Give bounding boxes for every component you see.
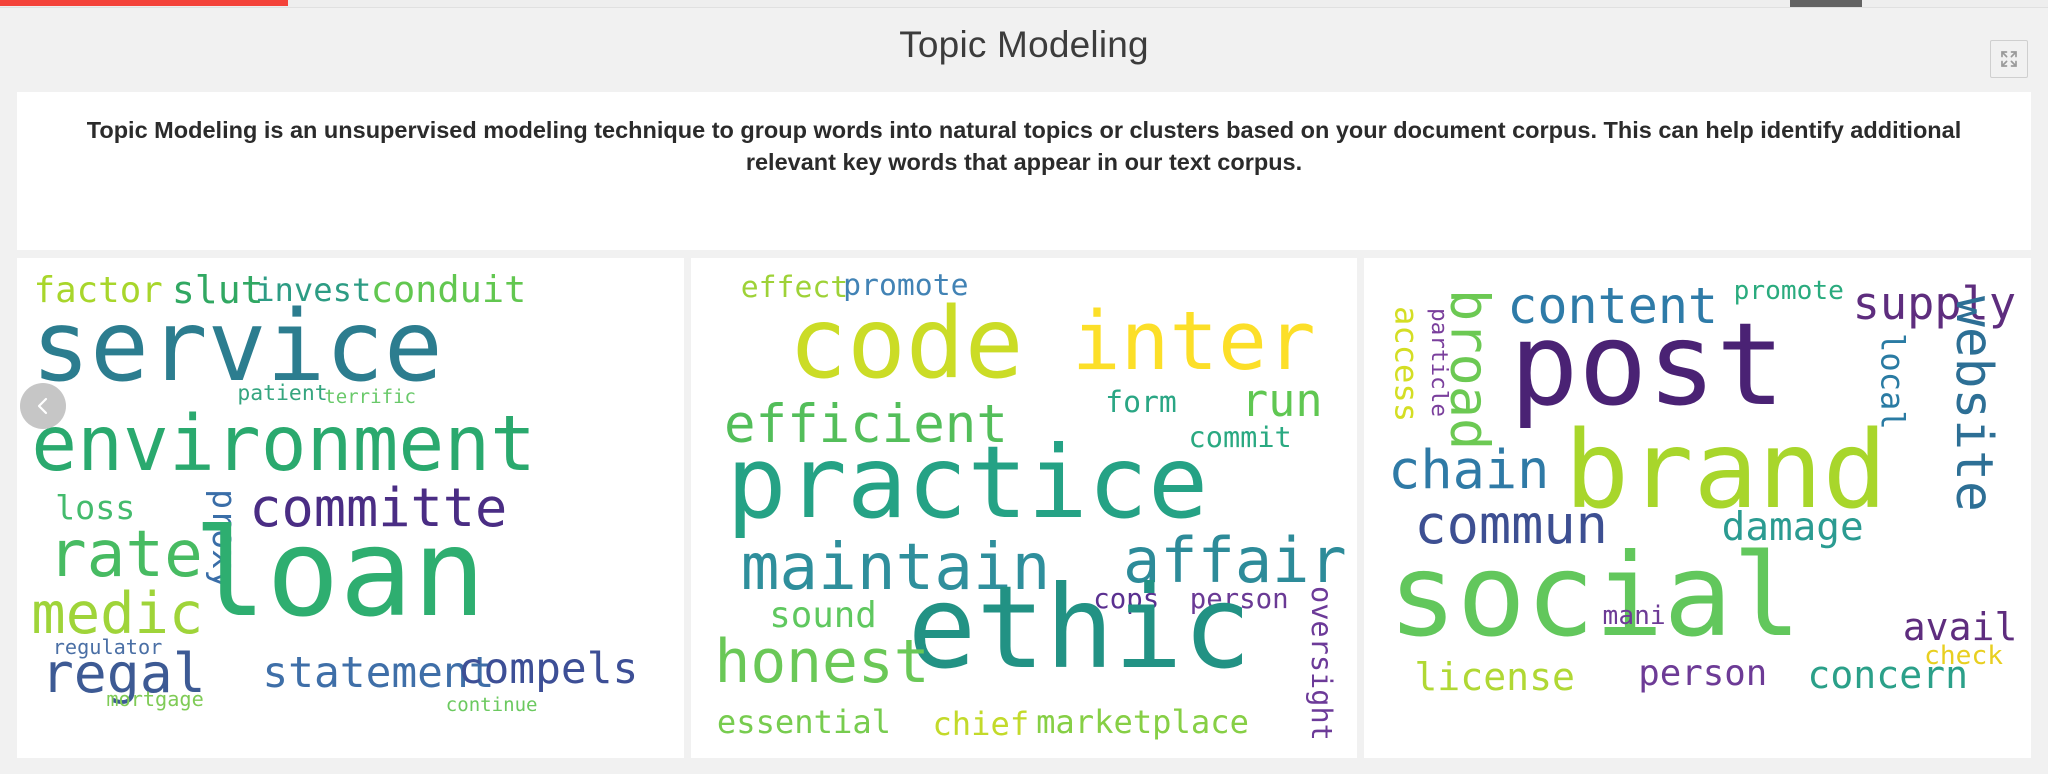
wordcloud-canvas-3: accessparticlebroadcontentpromotesupplyp… (1364, 258, 2031, 758)
bottom-spacer (0, 758, 2048, 774)
wordcloud-word: loan (193, 513, 486, 634)
wordcloud-word: continue (446, 696, 538, 715)
wordcloud-word: oversight (1308, 586, 1337, 741)
wordcloud-word: practice (726, 433, 1208, 533)
wordcloud-word: compels (458, 648, 639, 691)
wordcloud-word: broad (1443, 289, 1497, 450)
wordcloud-word: marketplace (1036, 706, 1249, 738)
wordcloud-word: website (1948, 296, 1999, 512)
expand-icon (1999, 49, 2019, 69)
chevron-left-icon (32, 395, 54, 417)
wordcloud-word: essential (717, 706, 891, 738)
wordcloud-word: concern (1807, 656, 1968, 694)
wordcloud-word: chief (932, 708, 1029, 740)
wordcloud-word: run (1241, 378, 1323, 423)
wordcloud-word: chain (1388, 443, 1549, 497)
wordcloud-word: social (1388, 539, 1801, 653)
description-card: Topic Modeling is an unsupervised modeli… (17, 92, 2031, 250)
wordcloud-word: honest (714, 633, 929, 693)
wordcloud-word: environment (31, 406, 536, 482)
wordcloud-word: inter (1072, 302, 1316, 383)
top-strip (0, 0, 2048, 8)
wordcloud-card-1[interactable]: factorslutinvestconduitservicepatientter… (17, 258, 684, 758)
wordcloud-word: form (1105, 388, 1177, 418)
wordcloud-word: access (1391, 306, 1423, 422)
wordcloud-word: rate (48, 523, 203, 587)
wordcloud-canvas-1: factorslutinvestconduitservicepatientter… (17, 258, 684, 758)
wordcloud-word: mani (1603, 603, 1666, 629)
wordcloud-word: license (1414, 658, 1575, 696)
page-title: Topic Modeling (0, 24, 2048, 66)
wordcloud-word: ethic (907, 571, 1251, 685)
wordcloud-word: person (1638, 656, 1767, 692)
wordcloud-canvas-2: effectpromotecodeinterformrunefficientco… (691, 258, 1358, 758)
progress-bar (0, 0, 288, 6)
horizontal-scrollbar-thumb[interactable] (1790, 0, 1862, 7)
expand-button[interactable] (1990, 40, 2028, 78)
wordcloud-carousel: factorslutinvestconduitservicepatientter… (17, 258, 2031, 758)
wordcloud-word: code (788, 296, 1023, 394)
wordcloud-card-2[interactable]: effectpromotecodeinterformrunefficientco… (691, 258, 1358, 758)
wordcloud-word: post (1510, 308, 1785, 422)
wordcloud-word: mortgage (106, 689, 203, 709)
page-header: Topic Modeling (0, 8, 2048, 90)
description-text: Topic Modeling is an unsupervised modeli… (39, 114, 2009, 179)
topic-modeling-page: Topic Modeling Topic Modeling is an unsu… (0, 0, 2048, 774)
carousel-prev-button[interactable] (20, 383, 66, 429)
wordcloud-card-3[interactable]: accessparticlebroadcontentpromotesupplyp… (1364, 258, 2031, 758)
